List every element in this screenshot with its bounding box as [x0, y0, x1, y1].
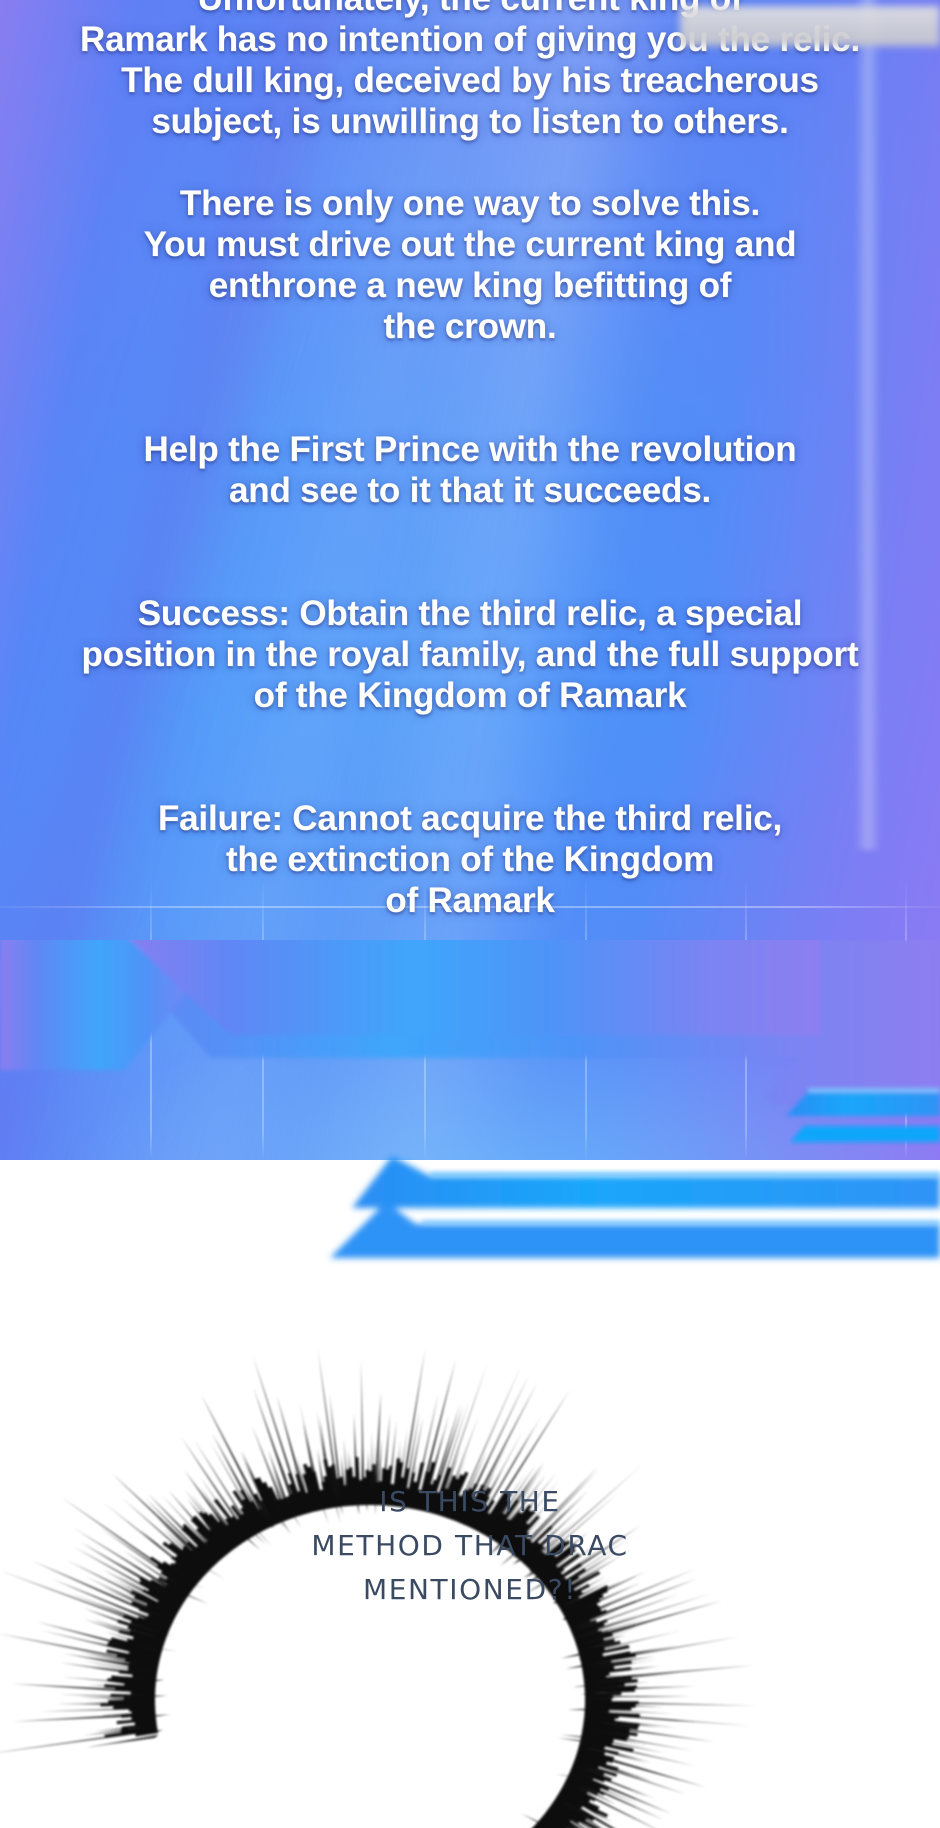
system-line: position in the royal family, and the fu… — [0, 634, 940, 675]
system-line: enthrone a new king befitting of — [0, 265, 940, 306]
paragraph-gap — [0, 388, 940, 429]
system-line: Help the First Prince with the revolutio… — [0, 429, 940, 470]
paragraph-gap — [0, 716, 940, 757]
bubble-line: METHOD THAT DRAC — [0, 1524, 940, 1568]
system-line: of the Kingdom of Ramark — [0, 675, 940, 716]
system-line: Failure: Cannot acquire the third relic, — [0, 798, 940, 839]
system-line: You must drive out the current king and — [0, 224, 940, 265]
paragraph-gap — [0, 142, 940, 183]
bubble-line: MENTIONED?! — [0, 1568, 940, 1612]
bubble-line: IS THIS THE — [0, 1480, 940, 1524]
system-line: the extinction of the Kingdom — [0, 839, 940, 880]
paragraph-gap — [0, 511, 940, 552]
system-line: subject, is unwilling to listen to other… — [0, 101, 940, 142]
paragraph-gap — [0, 757, 940, 798]
system-line: and see to it that it succeeds. — [0, 470, 940, 511]
system-line: Success: Obtain the third relic, a speci… — [0, 593, 940, 634]
system-line: There is only one way to solve this. — [0, 183, 940, 224]
system-line: of Ramark — [0, 880, 940, 921]
speech-bubble-text: IS THIS THE METHOD THAT DRAC MENTIONED?! — [0, 1480, 940, 1612]
paragraph-gap — [0, 552, 940, 593]
blurred-watermark — [680, 6, 940, 46]
system-line: the crown. — [0, 306, 940, 347]
panel-edge-speedlines — [0, 940, 940, 1280]
system-message-text: Unfortunately, the current king of Ramar… — [0, 0, 940, 921]
shout-speech-bubble: IS THIS THE METHOD THAT DRAC MENTIONED?! — [0, 1270, 940, 1828]
paragraph-gap — [0, 347, 940, 388]
system-line: The dull king, deceived by his treachero… — [0, 60, 940, 101]
